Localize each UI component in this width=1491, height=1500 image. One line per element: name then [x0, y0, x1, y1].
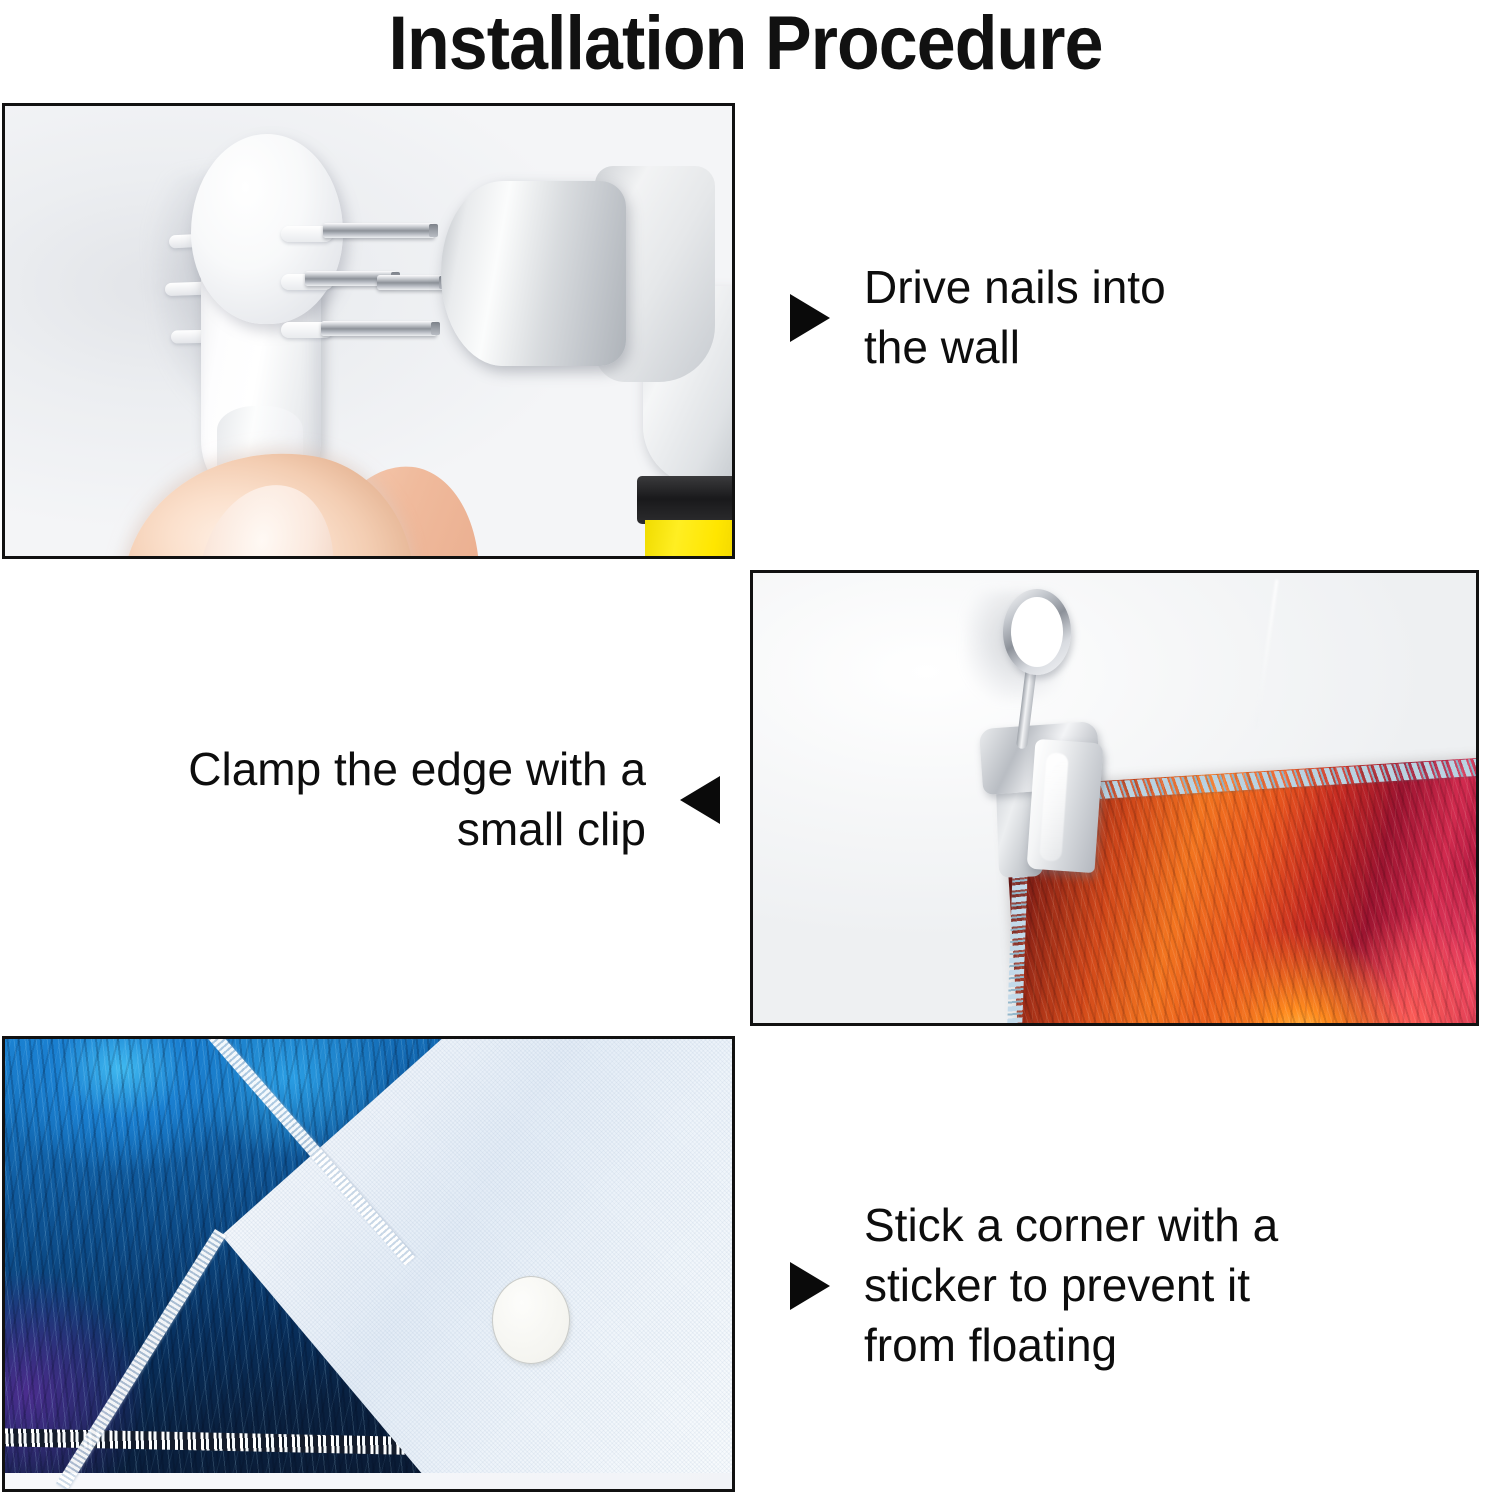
photo-drive-nails-scene: [5, 106, 732, 556]
callout-clamp-edge-text: Clamp the edge with a small clip: [188, 740, 646, 860]
callout-drive-nails-text: Drive nails into the wall: [864, 258, 1166, 378]
nail: [323, 223, 435, 238]
clip-ring-hook: [1003, 589, 1071, 675]
triangle-right-icon: [790, 294, 830, 342]
photo-stick-corner-scene: [5, 1039, 732, 1489]
callout-clamp-edge: Clamp the edge with a small clip: [70, 740, 720, 860]
callout-drive-nails: Drive nails into the wall: [790, 258, 1310, 378]
photo-clamp-edge: [750, 570, 1479, 1026]
hammer-head: [441, 181, 626, 366]
photo-clamp-edge-scene: [753, 573, 1476, 1023]
page-title: Installation Procedure: [60, 0, 1432, 91]
callout-stick-corner: Stick a corner with a sticker to prevent…: [790, 1196, 1410, 1375]
nail: [377, 275, 445, 290]
nail: [321, 321, 437, 336]
triangle-right-icon: [790, 1262, 830, 1310]
hammer-collar: [637, 476, 735, 524]
photo-stick-corner: [2, 1036, 735, 1492]
hammer-handle: [645, 520, 735, 559]
callout-stick-corner-text: Stick a corner with a sticker to prevent…: [864, 1196, 1278, 1375]
photo-drive-nails: [2, 103, 735, 559]
triangle-left-icon: [680, 776, 720, 824]
adhesive-sticker: [492, 1276, 570, 1364]
